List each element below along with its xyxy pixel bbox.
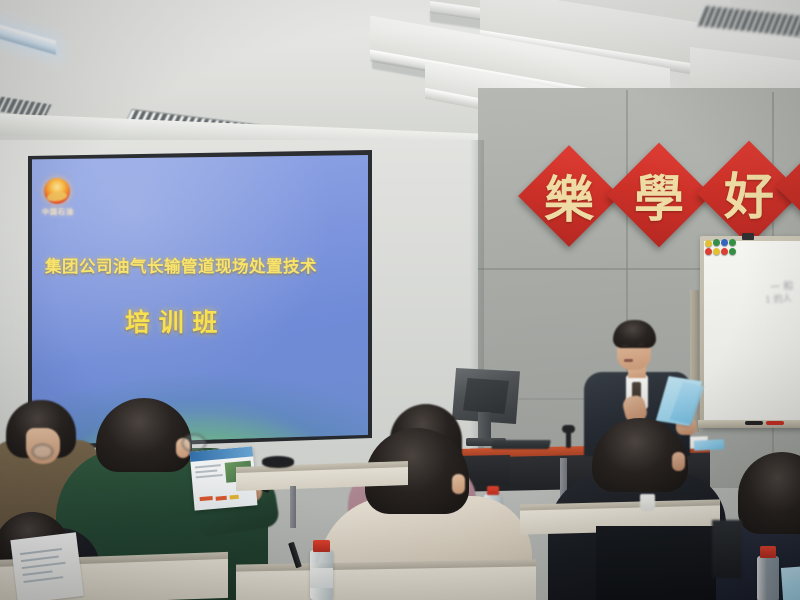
slide-subtitle: 培 训 班 <box>125 303 217 339</box>
brochure-accent-3 <box>230 495 239 500</box>
projection-screen-surface <box>32 155 368 445</box>
brochure-accent-2 <box>216 496 227 501</box>
attendee-dark-suit-left-ear <box>672 452 685 471</box>
whiteboard-surface[interactable] <box>704 241 800 421</box>
notes-line-1 <box>20 548 62 555</box>
monitor-stand-neck <box>478 412 491 440</box>
notes-line-4 <box>23 570 53 576</box>
cnpc-sun-logo <box>44 178 70 204</box>
plaque-4-char <box>790 154 800 220</box>
attendee-green-sweater-glasses <box>182 434 206 452</box>
magnet-5[interactable] <box>705 248 712 255</box>
cnpc-logo-wave <box>46 191 67 203</box>
notes-line-3 <box>22 562 66 569</box>
blue-document-front <box>781 564 800 600</box>
keyboard <box>491 440 551 449</box>
floor-gap-right <box>712 520 742 578</box>
attendee-cream-jacket-ear <box>452 474 465 494</box>
microphone-head <box>562 425 575 433</box>
magnet-6[interactable] <box>713 248 720 255</box>
photo-scene: 樂 學 好 一 和 1 的人 中国石油 集团公司油气长输管道现场处置技术 培 训… <box>0 0 800 600</box>
plaque-2-char: 學 <box>622 158 696 232</box>
brochure-text-line-3 <box>196 474 223 478</box>
desk-water-bottle-right <box>757 556 779 600</box>
magnet-1[interactable] <box>705 240 712 247</box>
presenter-eye-left <box>622 344 628 347</box>
marker-black[interactable] <box>745 421 763 425</box>
desk-water-bottle-front-cap <box>313 540 330 552</box>
magnet-2[interactable] <box>713 239 720 246</box>
presenter-hair <box>613 320 656 348</box>
brochure-text-line-2 <box>195 470 217 474</box>
chair-shadow-center <box>596 526 716 600</box>
monitor-rear-panel <box>463 378 509 414</box>
desk-water-bottle-front-label <box>310 568 333 588</box>
plaque-3-char: 好 <box>712 156 786 230</box>
marker-red[interactable] <box>766 421 784 425</box>
presenter-eye-right <box>638 343 644 346</box>
notes-line-2 <box>21 555 59 562</box>
magnet-3[interactable] <box>721 239 728 246</box>
screen-glare <box>32 155 368 445</box>
plaque-2: 學 <box>607 143 712 248</box>
podium-blue-folder <box>694 439 724 451</box>
cnpc-logo-text: 中国石油 <box>42 207 74 217</box>
whiteboard-clip <box>742 233 754 240</box>
mid-desk-bottle-cap <box>487 486 499 495</box>
printed-notes-left <box>10 532 83 600</box>
brochure-accent-1 <box>200 496 213 501</box>
microphone <box>566 431 571 448</box>
plaque-1: 樂 <box>518 145 620 247</box>
whiteboard-writing-line-2: 1 的人 <box>765 291 792 306</box>
desk-mid-left-leg <box>290 486 296 528</box>
brochure-text-line-1 <box>195 464 221 468</box>
paper-cup <box>640 494 655 511</box>
slide-title: 集团公司油气长输管道现场处置技术 <box>45 253 317 277</box>
plaque-1-char: 樂 <box>533 160 605 232</box>
magnet-8[interactable] <box>729 248 736 255</box>
desk-water-bottle-right-cap <box>760 546 776 558</box>
presenter-mouth <box>624 359 633 362</box>
notes-line-5 <box>23 576 63 583</box>
desk-dark-object <box>262 456 294 468</box>
attendee-olive-jacket-glasses <box>32 444 53 459</box>
magnet-7[interactable] <box>721 248 728 255</box>
magnet-4[interactable] <box>729 239 736 246</box>
